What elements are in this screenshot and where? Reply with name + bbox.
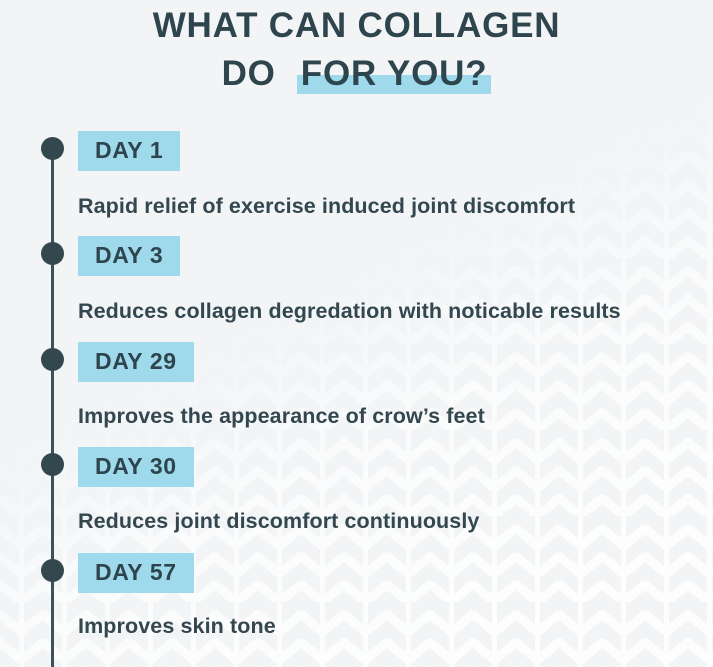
timeline-description-5: Improves skin tone [78,616,276,638]
timeline-day-badge-2: DAY 3 [78,236,180,276]
timeline-description-3: Improves the appearance of crow’s feet [78,406,485,428]
timeline: DAY 1 Rapid relief of exercise induced j… [0,0,713,667]
timeline-dot-day-29 [41,348,64,371]
timeline-description-4: Reduces joint discomfort continuously [78,511,479,533]
timeline-vertical-line [51,147,54,667]
timeline-description-1: Rapid relief of exercise induced joint d… [78,196,575,218]
timeline-day-badge-5: DAY 57 [78,553,194,593]
timeline-dot-day-3 [41,242,64,265]
timeline-day-badge-4: DAY 30 [78,447,194,487]
timeline-day-badge-1: DAY 1 [78,131,180,171]
timeline-dot-day-57 [41,559,64,582]
timeline-description-2: Reduces collagen degredation with notica… [78,301,621,323]
timeline-dot-day-1 [41,137,64,160]
timeline-dot-day-30 [41,453,64,476]
timeline-day-badge-3: DAY 29 [78,342,194,382]
